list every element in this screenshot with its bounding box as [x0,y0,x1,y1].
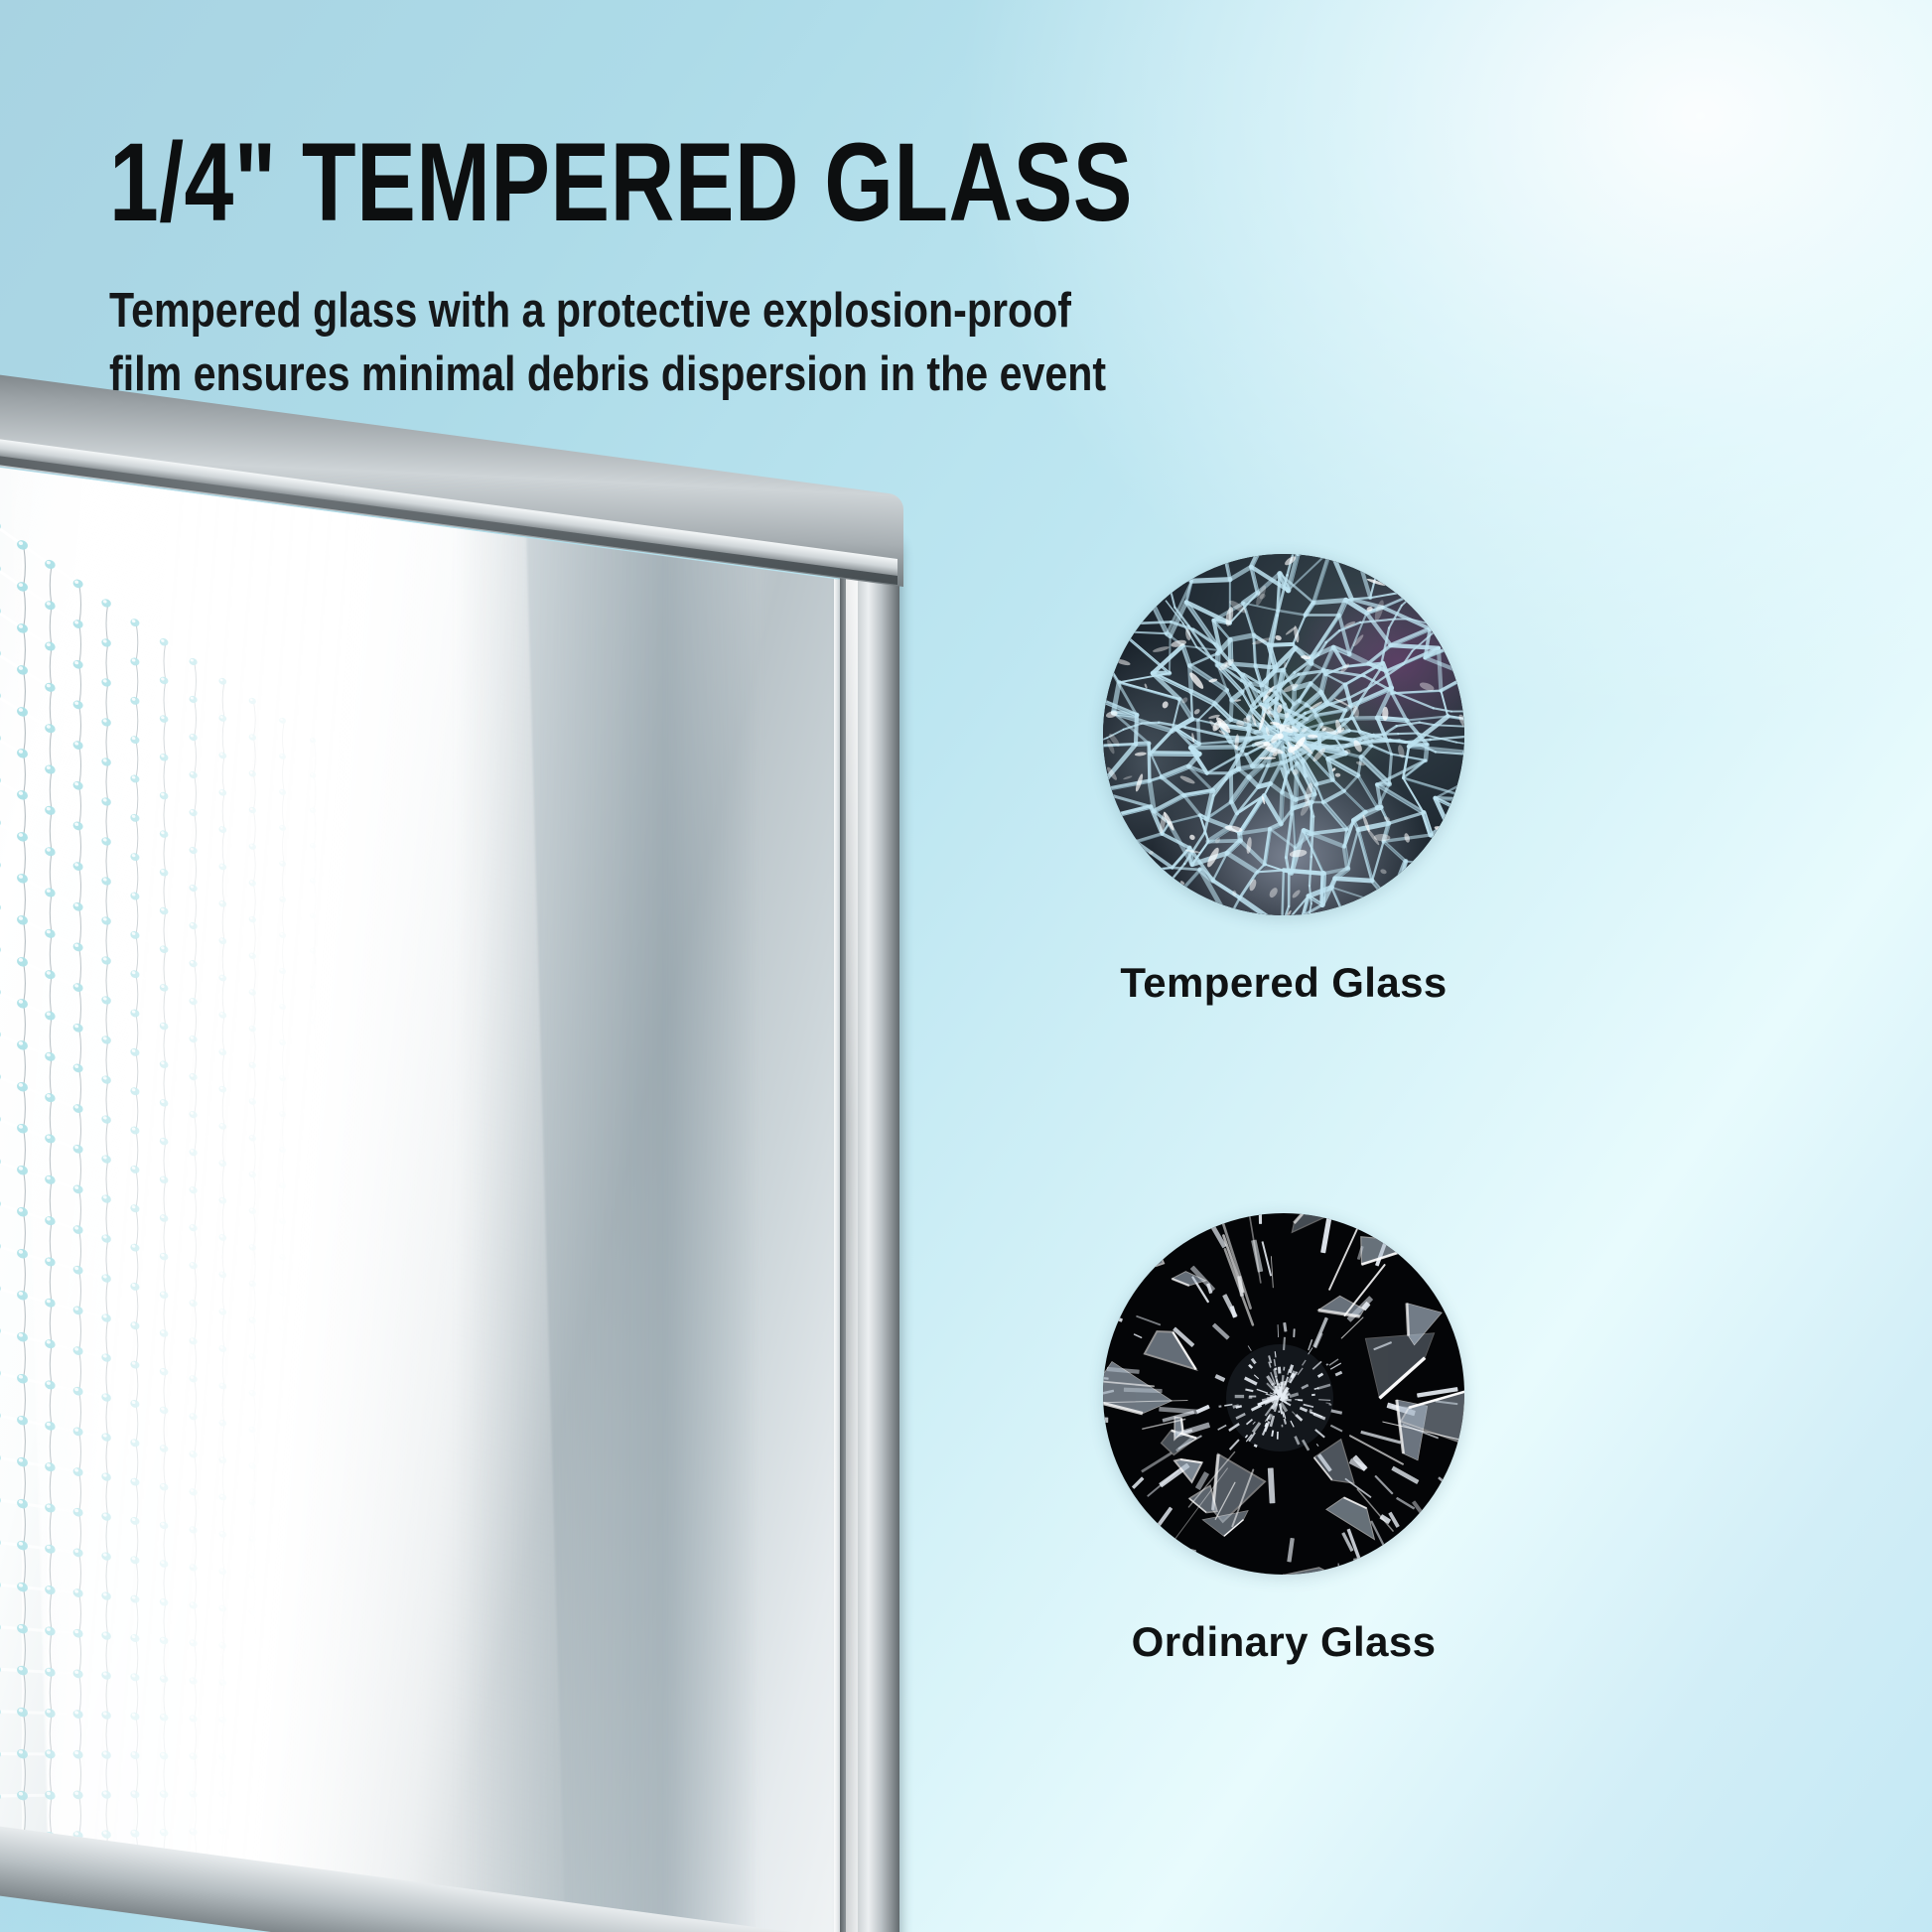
frame-right-highlight [846,561,858,1932]
ordinary-glass-thumbnail [1103,1213,1464,1575]
tempered-glass-thumbnail [1103,554,1464,915]
shattered-shards-glass-icon [1103,1213,1464,1575]
tempered-glass-caption: Tempered Glass [1103,959,1464,1007]
comparison-tempered-glass: Tempered Glass [1103,554,1464,1007]
comparison-ordinary-glass: Ordinary Glass [1103,1213,1464,1666]
infographic-stage: 1/4" TEMPERED GLASS Tempered glass with … [0,0,1932,1932]
page-title: 1/4" TEMPERED GLASS [109,127,1102,238]
glass-shadow-band [457,428,755,1932]
mirror-glass-surface [0,428,849,1932]
description-line-1: Tempered glass with a protective explosi… [109,280,1152,344]
ordinary-glass-caption: Ordinary Glass [1103,1618,1464,1666]
shattered-web-glass-icon [1103,554,1464,915]
description-line-2: film ensures minimal debris dispersion i… [109,344,1152,407]
mirror-product-image [0,501,1023,1932]
